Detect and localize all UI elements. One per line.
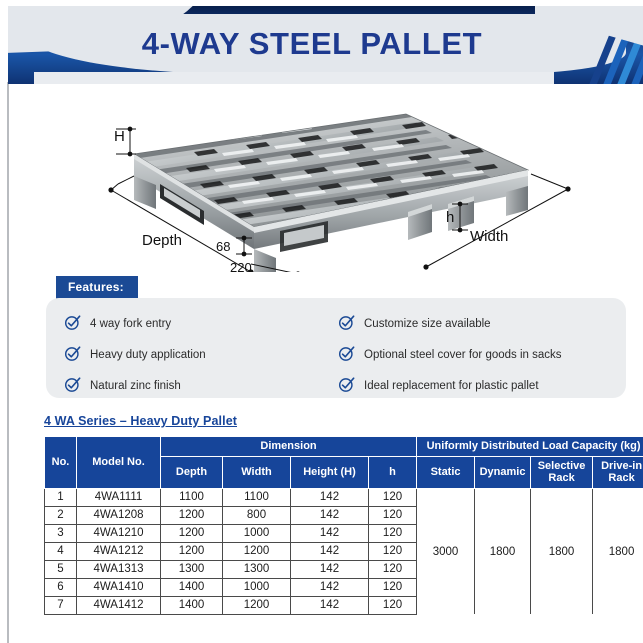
- cell-no: 5: [45, 560, 77, 578]
- cell-model: 4WA1412: [77, 596, 161, 614]
- check-circle-icon: [338, 376, 355, 393]
- check-circle-icon: [64, 314, 81, 331]
- series-heading: 4 WA Series – Heavy Duty Pallet: [44, 414, 237, 428]
- table-header-row-group: No. Model No. Dimension Uniformly Distri…: [45, 437, 643, 457]
- check-circle-icon: [338, 314, 355, 331]
- th-depth: Depth: [161, 456, 223, 488]
- cell-height: 142: [291, 542, 369, 560]
- cell-model: 4WA1212: [77, 542, 161, 560]
- th-static: Static: [417, 456, 475, 488]
- spec-sheet-page: 4-WAY STEEL PALLET: [0, 0, 643, 643]
- cell-no: 7: [45, 596, 77, 614]
- cell-depth: 1300: [161, 560, 223, 578]
- cell-depth: 1400: [161, 596, 223, 614]
- cell-no: 6: [45, 578, 77, 596]
- label-depth: Depth: [142, 232, 182, 249]
- check-circle-icon: [338, 345, 355, 362]
- label-foot-height-h: h: [446, 209, 454, 226]
- pallet-technical-drawing: H Depth Width h 68 220: [8, 92, 643, 272]
- cell-width: 1000: [223, 524, 291, 542]
- cell-selective-rack: 1800: [531, 488, 593, 614]
- page-title: 4-WAY STEEL PALLET: [8, 26, 616, 62]
- label-width: Width: [470, 228, 508, 245]
- cell-model: 4WA1313: [77, 560, 161, 578]
- th-h: h: [369, 456, 417, 488]
- cell-model: 4WA1410: [77, 578, 161, 596]
- cell-no: 1: [45, 488, 77, 506]
- cell-width: 800: [223, 506, 291, 524]
- th-selective-rack: Selective Rack: [531, 456, 593, 488]
- cell-depth: 1200: [161, 506, 223, 524]
- cell-h: 120: [369, 506, 417, 524]
- feature-item-1: 4 way fork entry: [90, 318, 171, 330]
- cell-height: 142: [291, 524, 369, 542]
- page-banner: 4-WAY STEEL PALLET: [8, 6, 643, 84]
- cell-depth: 1400: [161, 578, 223, 596]
- cell-height: 142: [291, 560, 369, 578]
- cell-width: 1200: [223, 542, 291, 560]
- cell-static: 3000: [417, 488, 475, 614]
- feature-item-3: Natural zinc finish: [90, 380, 181, 392]
- cell-h: 120: [369, 578, 417, 596]
- cell-height: 142: [291, 578, 369, 596]
- table-row: 14WA1111110011001421203000180018001800: [45, 488, 643, 506]
- spec-table: No. Model No. Dimension Uniformly Distri…: [44, 436, 643, 615]
- spec-table-body: 14WA111111001100142120300018001800180024…: [45, 488, 643, 614]
- cell-width: 1200: [223, 596, 291, 614]
- cell-h: 120: [369, 560, 417, 578]
- cell-no: 3: [45, 524, 77, 542]
- spec-table-head: No. Model No. Dimension Uniformly Distri…: [45, 437, 643, 489]
- feature-item-6: Ideal replacement for plastic pallet: [364, 380, 539, 392]
- cell-width: 1100: [223, 488, 291, 506]
- spec-table-wrapper: No. Model No. Dimension Uniformly Distri…: [44, 436, 600, 615]
- cell-depth: 1200: [161, 524, 223, 542]
- cell-model: 4WA1210: [77, 524, 161, 542]
- cell-height: 142: [291, 488, 369, 506]
- cell-h: 120: [369, 524, 417, 542]
- th-model-no: Model No.: [77, 437, 161, 489]
- feature-item-5: Optional steel cover for goods in sacks: [364, 349, 562, 361]
- cell-height: 142: [291, 506, 369, 524]
- cell-h: 120: [369, 488, 417, 506]
- th-load-capacity-group: Uniformly Distributed Load Capacity (kg): [417, 437, 643, 457]
- th-width: Width: [223, 456, 291, 488]
- features-badge: Features:: [56, 276, 138, 299]
- th-dimension-group: Dimension: [161, 437, 417, 457]
- cell-h: 120: [369, 596, 417, 614]
- cell-height: 142: [291, 596, 369, 614]
- pallet-illustration: [8, 92, 643, 272]
- th-no: No.: [45, 437, 77, 489]
- cell-width: 1300: [223, 560, 291, 578]
- cell-dynamic: 1800: [475, 488, 531, 614]
- cell-no: 2: [45, 506, 77, 524]
- th-dynamic: Dynamic: [475, 456, 531, 488]
- label-height-H: H: [114, 128, 125, 145]
- label-opening-height-68: 68: [216, 239, 230, 254]
- cell-depth: 1100: [161, 488, 223, 506]
- banner-swoosh-lower: [34, 72, 554, 84]
- label-opening-width-220: 220: [230, 260, 252, 275]
- cell-h: 120: [369, 542, 417, 560]
- cell-model: 4WA1111: [77, 488, 161, 506]
- th-height: Height (H): [291, 456, 369, 488]
- cell-no: 4: [45, 542, 77, 560]
- cell-model: 4WA1208: [77, 506, 161, 524]
- check-circle-icon: [64, 376, 81, 393]
- feature-item-4: Customize size available: [364, 318, 491, 330]
- cell-width: 1000: [223, 578, 291, 596]
- cell-depth: 1200: [161, 542, 223, 560]
- feature-item-2: Heavy duty application: [90, 349, 206, 361]
- check-circle-icon: [64, 345, 81, 362]
- cell-drive-in-rack: 1800: [593, 488, 643, 614]
- th-drive-in-rack: Drive-in Rack: [593, 456, 643, 488]
